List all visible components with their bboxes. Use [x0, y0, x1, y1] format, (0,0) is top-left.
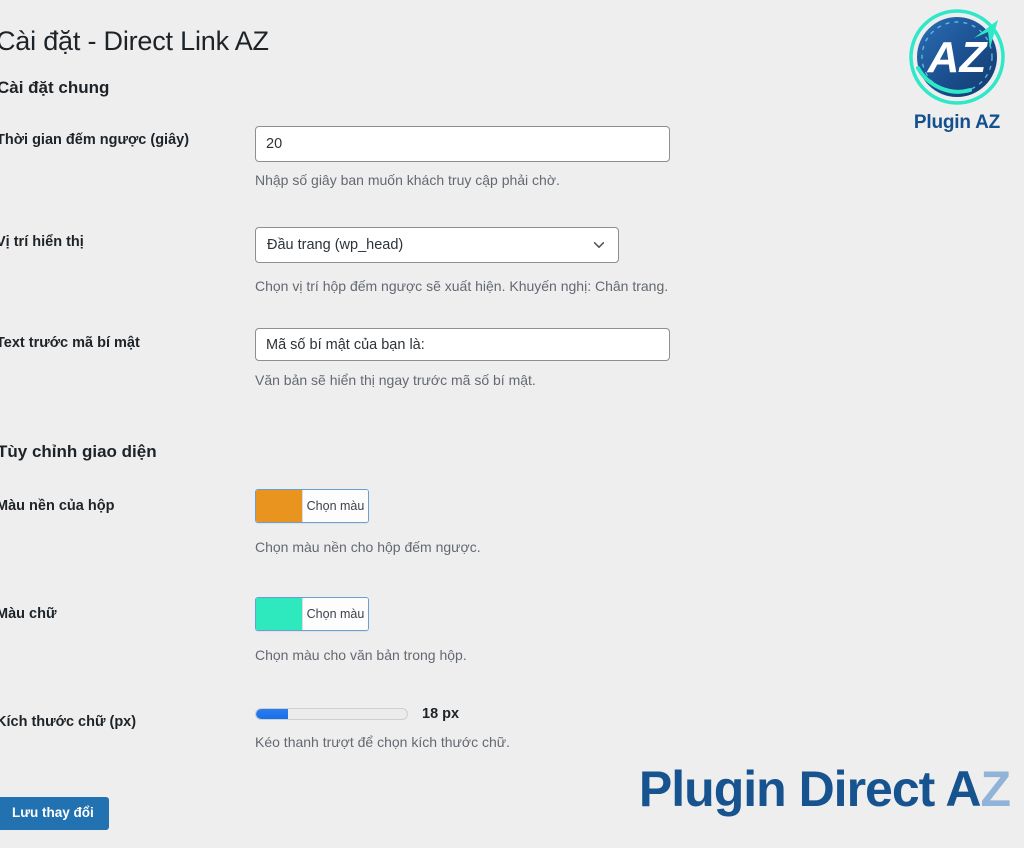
save-button[interactable]: Lưu thay đổi — [0, 797, 109, 830]
label-font-size: Kích thước chữ (px) — [0, 714, 136, 730]
font-size-slider-fill — [256, 709, 288, 719]
label-countdown: Thời gian đếm ngược (giây) — [0, 132, 189, 148]
label-position: Vị trí hiển thị — [0, 234, 84, 250]
bg-color-swatch — [256, 490, 302, 522]
desc-secret-prefix: Văn bản sẽ hiển thị ngay trước mã số bí … — [255, 372, 670, 388]
desc-font-size: Kéo thanh trượt để chọn kích thước chữ. — [255, 734, 510, 750]
font-size-slider[interactable] — [255, 708, 408, 720]
logo-caption: Plugin AZ — [896, 112, 1018, 134]
plugin-az-logo: AZ Plugin AZ — [896, 4, 1018, 134]
field-secret-prefix: Văn bản sẽ hiển thị ngay trước mã số bí … — [255, 328, 670, 388]
watermark-main: Plugin Direct A — [639, 761, 981, 817]
position-select-value: Đầu trang (wp_head) — [267, 237, 403, 253]
field-text-color: Chọn màu Chọn màu cho văn bản trong hộp. — [255, 597, 467, 663]
chevron-down-icon — [592, 238, 606, 252]
field-position: Đầu trang (wp_head) Chọn vị trí hộp đếm … — [255, 227, 668, 294]
label-secret-prefix: Text trước mã bí mật — [0, 335, 140, 351]
font-size-slider-wrap: 18 px — [255, 706, 510, 722]
section-heading-general: Cài đặt chung — [0, 78, 109, 98]
label-bg-color: Màu nền của hộp — [0, 498, 114, 514]
desc-text-color: Chọn màu cho văn bản trong hộp. — [255, 647, 467, 663]
position-select[interactable]: Đầu trang (wp_head) — [255, 227, 619, 263]
desc-countdown: Nhập số giây ban muốn khách truy cập phả… — [255, 172, 670, 188]
desc-bg-color: Chọn màu nền cho hộp đếm ngược. — [255, 539, 481, 555]
field-countdown: Nhập số giây ban muốn khách truy cập phả… — [255, 126, 670, 188]
page-title: Cài đặt - Direct Link AZ — [0, 26, 269, 57]
settings-page: Cài đặt - Direct Link AZ AZ — [0, 0, 1024, 848]
section-heading-appearance: Tùy chỉnh giao diện — [0, 442, 157, 462]
field-bg-color: Chọn màu Chọn màu nền cho hộp đếm ngược. — [255, 489, 481, 555]
field-font-size: 18 px Kéo thanh trượt để chọn kích thước… — [255, 706, 510, 750]
bg-color-picker-button[interactable]: Chọn màu — [255, 489, 369, 523]
watermark-tail: Z — [980, 761, 1010, 817]
watermark-plugin-direct-az: Plugin Direct AZ — [639, 760, 1010, 818]
secret-prefix-input[interactable] — [255, 328, 670, 361]
logo-badge-icon: AZ — [904, 4, 1010, 110]
text-color-picker-button[interactable]: Chọn màu — [255, 597, 369, 631]
countdown-input[interactable] — [255, 126, 670, 162]
text-color-picker-label: Chọn màu — [302, 598, 368, 630]
font-size-value: 18 px — [422, 706, 459, 722]
bg-color-picker-label: Chọn màu — [302, 490, 368, 522]
svg-text:AZ: AZ — [927, 33, 989, 82]
desc-position: Chọn vị trí hộp đếm ngược sẽ xuất hiện. … — [255, 278, 668, 294]
label-text-color: Màu chữ — [0, 606, 56, 622]
text-color-swatch — [256, 598, 302, 630]
